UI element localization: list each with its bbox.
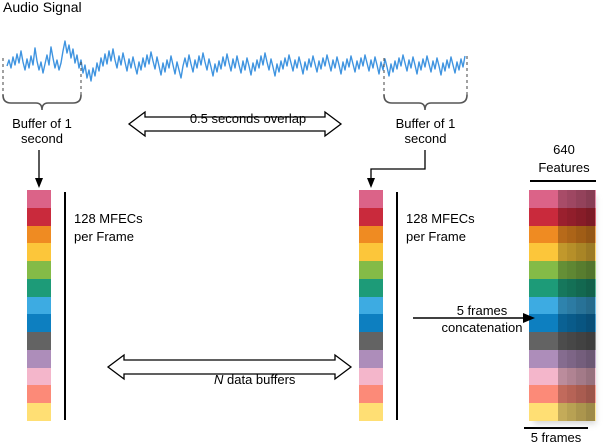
- diagram-lines: [0, 0, 606, 448]
- buffer-left-to-strip-arrow: [35, 150, 43, 188]
- data-buffers-double-arrow: [108, 355, 351, 379]
- concatenation-arrow: [413, 313, 535, 323]
- diagram-canvas: Audio Signal Buffer of 1 second Buffer o…: [0, 0, 606, 448]
- buffer-right-to-strip-arrow: [367, 150, 425, 188]
- audio-waveform: [7, 41, 465, 81]
- buffer-right-brace: [384, 95, 467, 110]
- buffer-left-brace: [3, 95, 81, 110]
- overlap-double-arrow: [129, 112, 341, 136]
